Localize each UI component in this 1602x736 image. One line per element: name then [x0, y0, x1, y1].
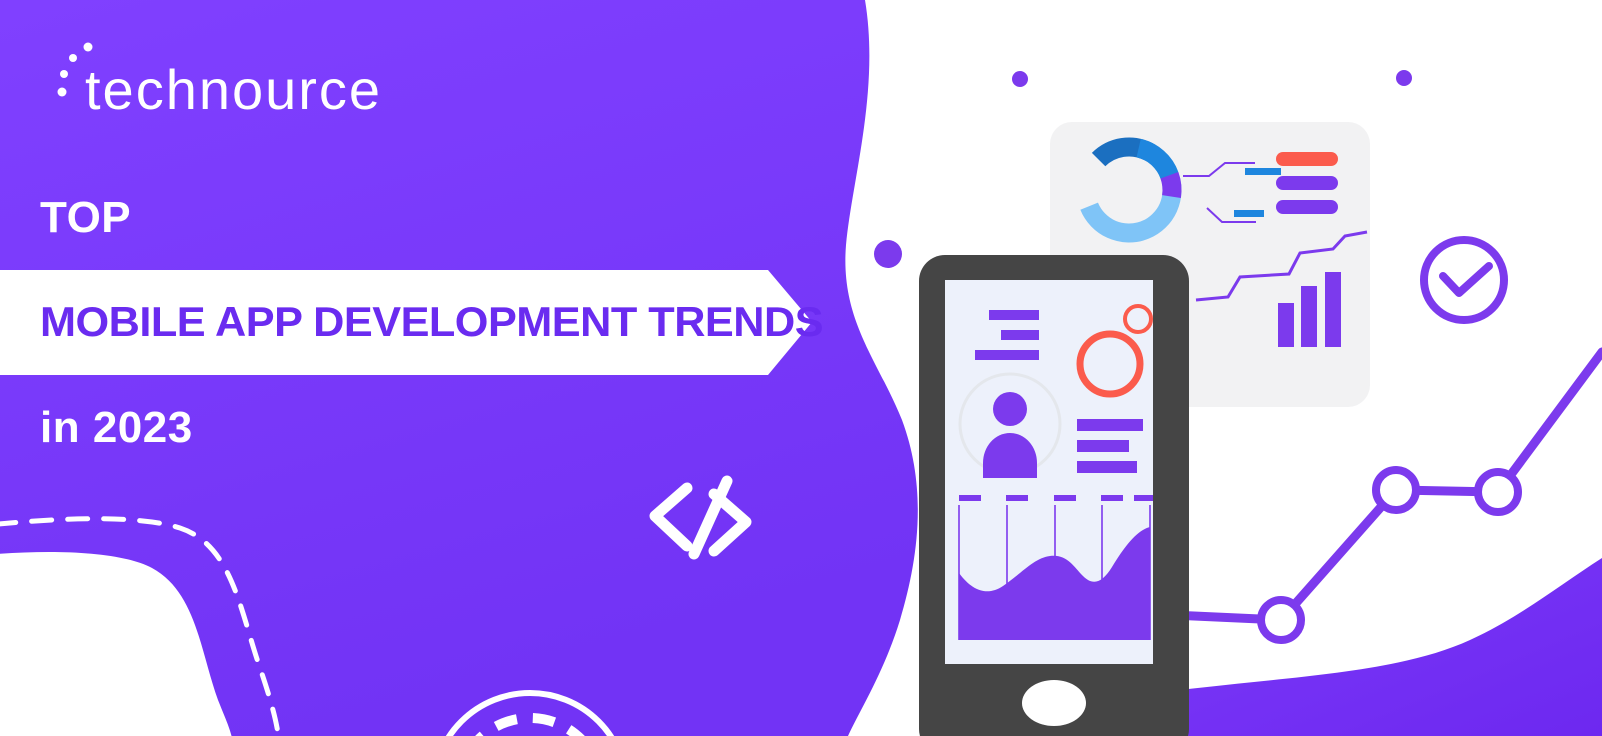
headline-year: in 2023: [40, 403, 193, 453]
headline-eyebrow: TOP: [40, 193, 131, 243]
page-title: MOBILE APP DEVELOPMENT TRENDS: [40, 298, 823, 346]
logo-wordmark: technource: [85, 57, 382, 122]
banner-root: technource TOP MOBILE APP DEVELOPMENT TR…: [0, 0, 1602, 736]
